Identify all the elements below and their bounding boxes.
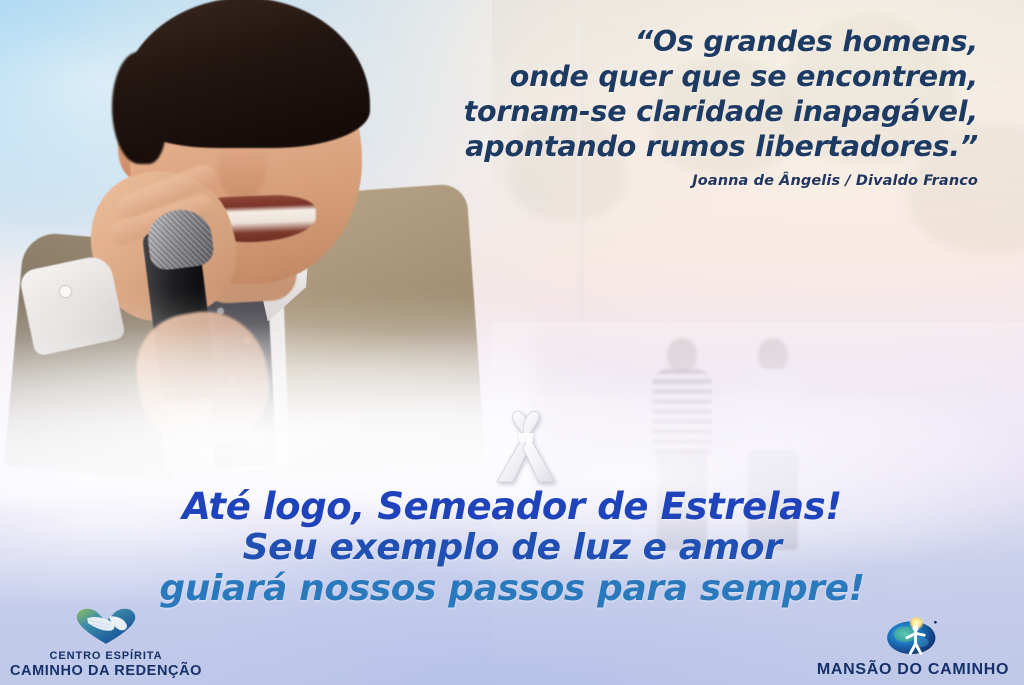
cheek-highlight bbox=[168, 172, 234, 226]
eye-right bbox=[266, 126, 324, 136]
quote-line-1: “Os grandes homens, bbox=[418, 24, 978, 59]
ear bbox=[118, 122, 154, 180]
finger bbox=[113, 161, 218, 222]
logo-centro-espirita[interactable]: CENTRO ESPÍRITA CAMINHO DA REDENÇÃO bbox=[6, 605, 206, 679]
quote-line-2: onde quer que se encontrem, bbox=[418, 59, 978, 94]
microphone-body bbox=[142, 227, 218, 403]
shirt-collar-right bbox=[248, 254, 308, 324]
hair-side bbox=[112, 52, 166, 164]
figure-head bbox=[667, 338, 697, 372]
cuff-button bbox=[60, 286, 71, 297]
patterned-necktie bbox=[205, 275, 277, 468]
logo-right-line-2: MANSÃO DO CAMINHO bbox=[817, 661, 1009, 679]
figure-torso bbox=[652, 369, 712, 455]
microphone-head bbox=[145, 206, 216, 271]
nose bbox=[218, 142, 266, 200]
headline-line-1: Até logo, Semeador de Estrelas! bbox=[0, 486, 1024, 527]
eyebrow-right bbox=[264, 101, 333, 118]
face bbox=[130, 16, 362, 284]
figure-torso bbox=[743, 369, 803, 455]
quote-attribution: Joanna de Ângelis / Divaldo Franco bbox=[418, 173, 978, 189]
dress-shirt bbox=[156, 260, 289, 470]
shirt-cuff bbox=[18, 253, 126, 356]
quote-line-3: tornam-se claridade inapagável, bbox=[418, 94, 978, 129]
finger bbox=[107, 192, 217, 248]
photo-wall bbox=[492, 322, 1024, 411]
portrait-photo bbox=[14, 0, 484, 464]
logo-right-text: MANSÃO DO CAMINHO bbox=[817, 661, 1009, 679]
portrait-mist-fade bbox=[0, 294, 534, 504]
hair bbox=[120, 0, 370, 148]
logo-left-text: CENTRO ESPÍRITA CAMINHO DA REDENÇÃO bbox=[10, 650, 202, 679]
figure-head bbox=[758, 338, 788, 372]
quote-line-4: apontando rumos libertadores.” bbox=[418, 129, 978, 164]
neck bbox=[198, 228, 298, 305]
eye-left bbox=[174, 128, 230, 139]
headline-line-2: Seu exemplo de luz e amor bbox=[0, 527, 1024, 568]
headline-line-3: guiará nossos passos para sempre! bbox=[0, 568, 1024, 609]
mourning-ribbon-icon bbox=[489, 408, 563, 488]
shirt-collar-left bbox=[162, 254, 222, 324]
logo-mansao-do-caminho[interactable]: MANSÃO DO CAMINHO bbox=[808, 616, 1018, 679]
hand-on-chin bbox=[74, 153, 251, 334]
smiling-mouth bbox=[189, 194, 317, 244]
heart-hands-icon bbox=[72, 605, 140, 650]
chin-shadow bbox=[204, 236, 296, 290]
hand-holding-microphone bbox=[127, 302, 278, 457]
memorial-poster: “Os grandes homens, onde quer que se enc… bbox=[0, 0, 1024, 685]
globe-figure-icon bbox=[882, 616, 944, 661]
logo-left-line-1: CENTRO ESPÍRITA bbox=[10, 650, 202, 662]
headline-block: Até logo, Semeador de Estrelas! Seu exem… bbox=[0, 486, 1024, 609]
logo-left-line-2: CAMINHO DA REDENÇÃO bbox=[10, 663, 202, 679]
eyebrow-left bbox=[166, 103, 233, 121]
suit-left-shoulder bbox=[4, 231, 194, 481]
suit-right-shoulder bbox=[256, 183, 485, 477]
quote-block: “Os grandes homens, onde quer que se enc… bbox=[418, 24, 978, 189]
